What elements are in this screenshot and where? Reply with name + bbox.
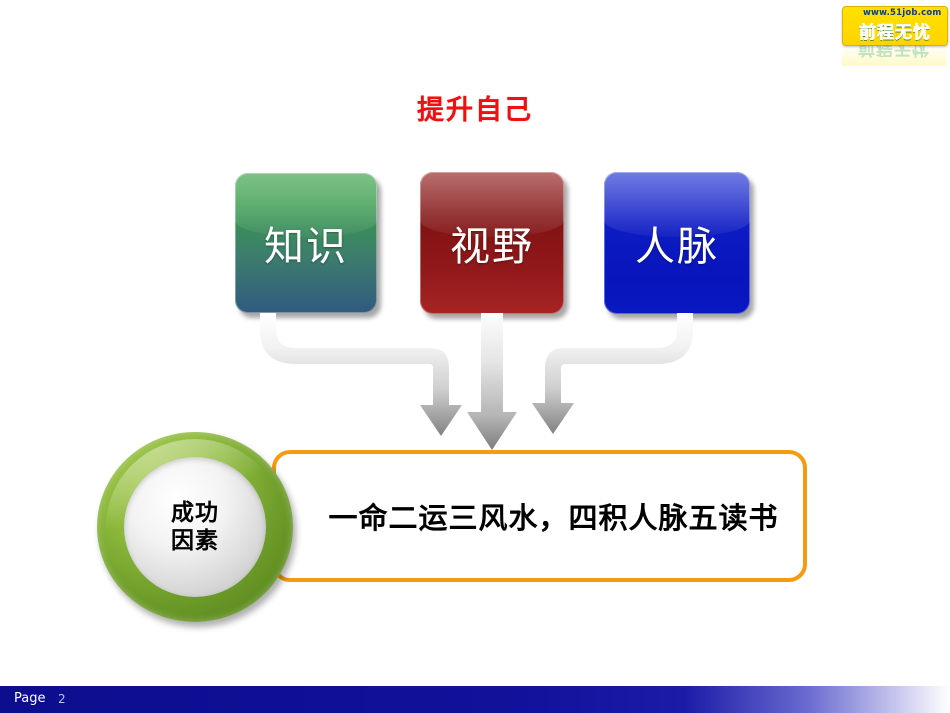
arrow-right-elbow [532, 313, 693, 434]
success-factor-badge[interactable]: 成功 因素 [97, 432, 293, 622]
badge-label-line1: 成功 [171, 500, 219, 526]
box-knowledge-label: 知识 [235, 214, 377, 272]
arrow-left-elbow [260, 313, 462, 436]
footer-page-number: 2 [58, 692, 66, 706]
arrow-middle-straight [467, 313, 517, 450]
logo-reflection-text: 前程无忧 [858, 45, 930, 63]
box-network[interactable]: 人脉 [604, 172, 750, 314]
statement-text: 一命二运三风水，四积人脉五读书 [276, 495, 803, 537]
logo-51job[interactable]: www.51job.com 前程无忧 前程无忧 [838, 4, 948, 66]
footer-bar: Page 2 [0, 686, 950, 713]
logo-reflection: 前程无忧 [842, 45, 946, 66]
box-vision[interactable]: 视野 [420, 172, 564, 314]
box-network-label: 人脉 [604, 214, 750, 272]
footer-page-label: Page [14, 691, 45, 706]
slide-title: 提升自己 [0, 88, 950, 127]
logo-brand-text: 前程无忧 [859, 18, 931, 43]
statement-box[interactable]: 一命二运三风水，四积人脉五读书 [272, 450, 807, 582]
logo-url-text: www.51job.com [863, 8, 941, 18]
slide-canvas: www.51job.com 前程无忧 前程无忧 提升自己 知识 视野 人脉 [0, 0, 950, 713]
badge-label: 成功 因素 [124, 499, 266, 555]
logo-plate: www.51job.com 前程无忧 [842, 6, 948, 46]
badge-inner-disc: 成功 因素 [124, 457, 266, 597]
badge-label-line2: 因素 [171, 528, 219, 554]
box-vision-label: 视野 [420, 214, 564, 272]
box-knowledge[interactable]: 知识 [235, 173, 377, 313]
